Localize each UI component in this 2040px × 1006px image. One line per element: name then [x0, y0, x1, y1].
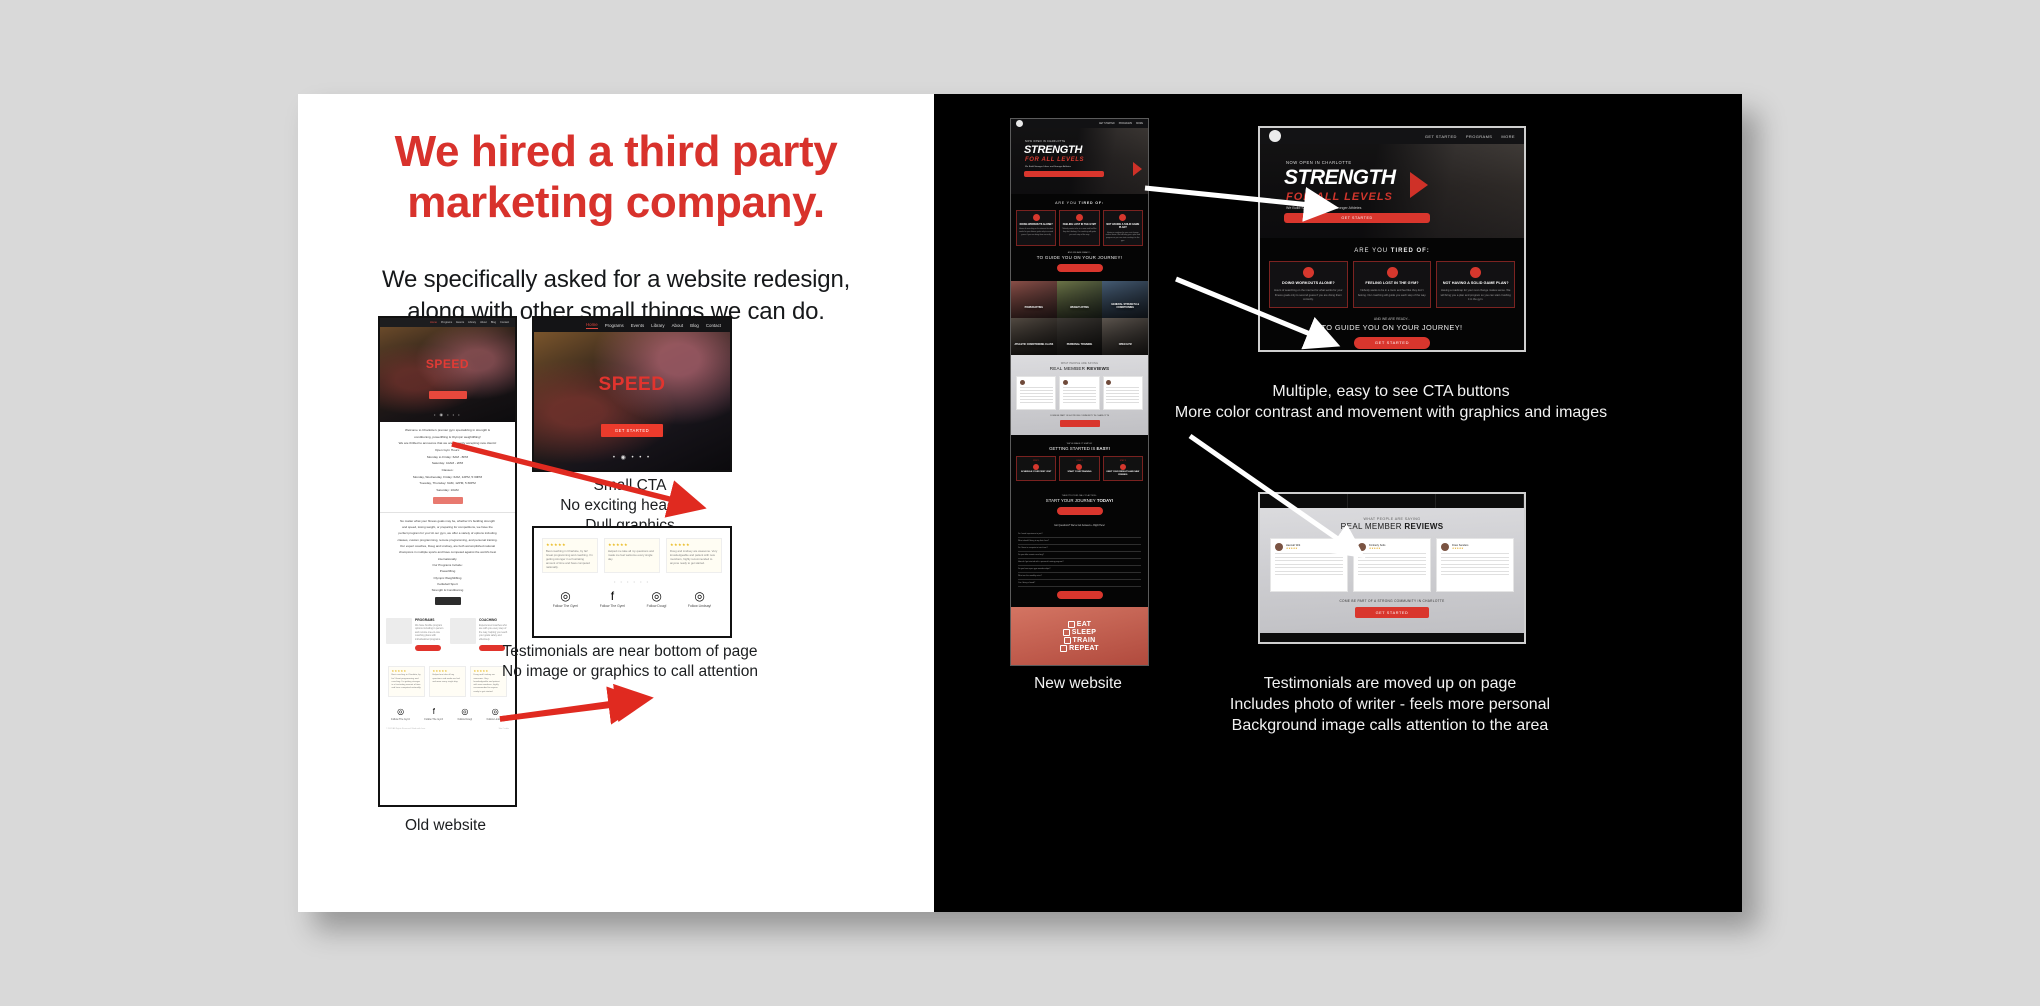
old-zoom-navbar[interactable]: Home Programs Events Library About Blog … [534, 318, 730, 332]
instagram-icon[interactable]: ◎ [391, 708, 410, 716]
chevron-right-icon [1133, 162, 1142, 176]
carousel-dots-icon[interactable]: • ◉ • • • [534, 454, 730, 461]
old-site-navbar[interactable]: Home Programs Events Library About Blog … [380, 318, 515, 327]
tired-card: FEELING LOST IN THE GYM? Nobody wants to… [1059, 210, 1099, 246]
faq-item[interactable]: Do you have open gym memberships? [1018, 566, 1141, 573]
star-rating-icon: ★★★★★ [1369, 547, 1385, 550]
badge-icon [1033, 464, 1039, 470]
tired-card: FEELING LOST IN THE GYM? Nobody wants to… [1353, 261, 1432, 308]
old-site-social-row: ◎ Follow The Gym! f Follow The Gym! ◎ Fo… [380, 701, 515, 725]
new-site-lifestyle-band: EAT SLEEP TRAIN REPEAT [1011, 607, 1148, 665]
faq-item[interactable]: What are the monthly rates? [1018, 573, 1141, 580]
badge-icon [1387, 267, 1398, 278]
old-nav-library[interactable]: Library [468, 321, 476, 324]
review-text: Best coaching in Charlotte, by far! Grea… [392, 674, 422, 690]
program-tile[interactable]: GENERAL STRENGTH & CONDITIONING [1102, 281, 1148, 318]
review-text: Helped me take all my questions and made… [433, 674, 463, 684]
welcome-line: conditioning, powerlifting & Olympic wei… [388, 435, 507, 439]
new-zoom-nav-more[interactable]: MORE [1501, 134, 1515, 139]
facebook-icon[interactable]: f [424, 708, 443, 716]
caption-line: Small CTA [498, 476, 762, 496]
section-strip [1260, 633, 1524, 642]
review-card: ★★★★★ Helped me take all my questions an… [604, 538, 660, 573]
old-hero-cta-button[interactable] [429, 391, 467, 399]
subheadline-line-1: We specifically asked for a website rede… [338, 264, 894, 296]
welcome-line: Classes: [388, 468, 507, 472]
start-cta-button[interactable] [1057, 507, 1103, 515]
social-label: Follow The Gym! [553, 604, 579, 608]
about-line: classes, custom programming, remote prog… [387, 538, 508, 542]
welcome-line: Open Gym Hours: [388, 448, 507, 452]
social-item[interactable]: ◎ Follow The Gym! [553, 590, 579, 608]
caption-line: No exciting headline [498, 496, 762, 516]
new-hero-caption: Multiple, easy to see CTA buttons More c… [1148, 382, 1634, 424]
old-zoom-nav-blog[interactable]: Blog [690, 323, 699, 328]
page-title: We hired a third party marketing company… [298, 126, 934, 229]
program-label: GENERAL STRENGTH & CONDITIONING [1102, 303, 1148, 309]
ready-kicker: AND WE ARE READY... [1016, 252, 1143, 254]
social-item[interactable]: f Follow The Gym! [600, 590, 626, 608]
new-zoom-nav-get-started[interactable]: GET STARTED [1425, 134, 1457, 139]
lifestyle-repeat: REPEAT [1060, 645, 1099, 652]
step-title: START YOUR TRAINING [1062, 471, 1096, 474]
social-item[interactable]: ◎ Follow The Gym! [391, 708, 410, 721]
program-tile[interactable]: OPEN GYM [1102, 318, 1148, 355]
step-number: STEP 2 [1062, 460, 1096, 462]
avatar [1358, 543, 1366, 551]
left-panel-old-website: We hired a third party marketing company… [298, 94, 934, 912]
step-number: STEP 1 [1019, 460, 1053, 462]
instagram-icon[interactable]: ◎ [688, 590, 711, 602]
program-tile[interactable]: PERSONAL TRAINING [1057, 318, 1103, 355]
faq-title: Got Questions? We've Got Answers + Right… [1018, 525, 1141, 527]
guide-headline: TO GUIDE YOU ON YOUR JOURNEY! [1269, 323, 1515, 332]
new-site-hero: NOW OPEN IN CHARLOTTE STRENGTH FOR ALL L… [1011, 128, 1148, 194]
about-line: No matter what your fitness goals may be… [387, 519, 508, 523]
reviews-headline: REAL MEMBER REVIEWS [1016, 366, 1143, 371]
new-site-reviews-section: WHAT PEOPLE ARE SAYING REAL MEMBER REVIE… [1011, 355, 1148, 435]
card-body: We have flexible program options includi… [415, 624, 445, 642]
instagram-icon[interactable]: ◎ [487, 708, 504, 716]
facebook-icon[interactable]: f [600, 590, 626, 602]
about-line: champions in multiple sports and have co… [387, 550, 508, 554]
tired-card-title: FEELING LOST IN THE GYM? [1062, 223, 1096, 226]
lifestyle-eat: EAT [1068, 621, 1091, 628]
instagram-icon[interactable]: ◎ [553, 590, 579, 602]
old-zoom-nav-programs[interactable]: Programs [605, 323, 624, 328]
badge-icon [1470, 267, 1481, 278]
tired-card-body: Having a roadmap for your next change ma… [1440, 289, 1511, 302]
old-zoom-nav-contact[interactable]: Contact [706, 323, 721, 328]
old-card-programs[interactable]: PROGRAMS We have flexible program option… [386, 618, 445, 651]
welcome-line: Tuesday, Thursday: 6AM, 12PM, 5:30PM [388, 481, 507, 485]
review-card: ★★★★★ Best coaching in Charlotte, by far… [388, 666, 425, 698]
avatar [1020, 380, 1025, 385]
program-tile[interactable]: POWERLIFTING [1011, 281, 1057, 318]
brand-logo-icon[interactable] [1269, 130, 1281, 142]
avatar [1275, 543, 1283, 551]
tired-card-title: DOING WORKOUTS ALONE? [1019, 223, 1053, 226]
faq-cta-button[interactable] [1057, 591, 1103, 599]
hero-kicker: NOW OPEN IN CHARLOTTE [1286, 160, 1352, 165]
checkbox-icon [1064, 637, 1071, 644]
old-website-testimonials-zoom[interactable]: ★★★★★ Best coaching in Charlotte, by far… [532, 526, 732, 638]
new-nav-get-started[interactable]: GET STARTED [1099, 123, 1115, 125]
hero-cta-button[interactable] [1024, 171, 1104, 177]
start-kicker: THEN IT'S YOUR CALL TO ACTION... [1016, 495, 1143, 497]
old-nav-contact[interactable]: Contact [500, 321, 509, 324]
new-zoom-tired-section: ARE YOU TIRED OF: DOING WORKOUTS ALONE? … [1260, 238, 1524, 352]
old-zoom-social-row: ◎ Follow The Gym! f Follow The Gym! ◎ Fo… [542, 590, 722, 608]
badge-icon [1076, 464, 1082, 470]
social-item[interactable]: f Follow The Gym! [424, 708, 443, 721]
review-card: Drew Sanders★★★★★ [1436, 538, 1514, 592]
old-zoom-nav-library[interactable]: Library [651, 323, 664, 328]
card-thumbnail [386, 618, 412, 644]
new-site-faq-section: Got Questions? We've Got Answers + Right… [1011, 523, 1148, 607]
about-line: and speed, losing weight, or preparing f… [387, 525, 508, 529]
star-rating-icon: ★★★★★ [546, 542, 594, 547]
checkbox-icon [1068, 621, 1075, 628]
new-zoom-hero: NOW OPEN IN CHARLOTTE STRENGTH FOR ALL L… [1260, 144, 1524, 238]
review-card [1103, 376, 1143, 410]
reviews-cta-button[interactable] [1060, 420, 1100, 427]
hero-headline: STRENGTH [1024, 144, 1082, 156]
badge-icon [1303, 267, 1314, 278]
avatar [1063, 380, 1068, 385]
tired-card-title: NOT HAVING A SOLID GAME PLAN? [1440, 281, 1511, 286]
old-zoom-hero: SPEED GET STARTED • ◉ • • • [534, 332, 730, 470]
tired-card-body: Hours of searching on the internet for w… [1019, 228, 1053, 236]
faq-item[interactable]: Do I have to compete to train here? [1018, 545, 1141, 552]
about-line: perfect program for you! At our gym, we … [387, 531, 508, 535]
social-label: Follow Lindsay! [487, 718, 504, 721]
easy-kicker: WE'VE MADE IT SIMPLE! [1016, 443, 1143, 445]
headline-line-2: marketing company. [298, 177, 934, 228]
welcome-line: Saturday: 10AM [388, 488, 507, 492]
lifestyle-sleep: SLEEP [1063, 629, 1096, 636]
social-label: Follow The Gym! [391, 718, 410, 721]
tired-title: ARE YOU TIRED OF: [1269, 248, 1515, 254]
about-line: Our expert coaches, Doug and Lindsey, ar… [387, 544, 508, 548]
reviews-kicker: WHAT PEOPLE ARE SAYING [1016, 363, 1143, 365]
new-website-full-page-mockup[interactable]: GET STARTED PROGRAMS MORE NOW OPEN IN CH… [1010, 118, 1149, 666]
welcome-line: We are thrilled to announce that we are … [388, 441, 507, 445]
section-strip [1260, 494, 1524, 508]
new-nav-programs[interactable]: PROGRAMS [1119, 123, 1132, 125]
footer-link[interactable]: Site Credits [499, 728, 509, 730]
social-item[interactable]: ◎ Follow Lindsay! [688, 590, 711, 608]
faq-item[interactable]: Do I need experience to join? [1018, 531, 1141, 538]
social-label: Follow The Gym! [424, 718, 443, 721]
social-label: Follow Doug! [458, 718, 473, 721]
new-site-start-section: THEN IT'S YOUR CALL TO ACTION... START Y… [1011, 489, 1148, 523]
caption-line: Background image calls attention to the … [1154, 716, 1626, 737]
old-site-footer-bar: © 2023 All Rights Reserved. Made with lo… [380, 725, 515, 735]
caption-line: Includes photo of writer - feels more pe… [1154, 695, 1626, 716]
old-site-about-block: No matter what your fitness goals may be… [380, 512, 515, 611]
old-site-welcome-block: Welcome to Charlotte's premier gym speci… [380, 422, 515, 512]
program-label: ATHLETIC CONDITIONING CLASS [1014, 343, 1053, 346]
new-website-hero-zoom[interactable]: GET STARTED PROGRAMS MORE NOW OPEN IN CH… [1258, 126, 1526, 352]
review-card [1059, 376, 1099, 410]
guide-headline: TO GUIDE YOU ON YOUR JOURNEY! [1016, 255, 1143, 260]
badge-icon [1120, 464, 1126, 470]
presentation-stage: We hired a third party marketing company… [0, 0, 2040, 1006]
faq-item[interactable]: How do I get started with a personal tra… [1018, 559, 1141, 566]
old-zoom-cta-button[interactable]: GET STARTED [601, 424, 663, 437]
tired-card: NOT HAVING A SOLID GAME PLAN? Having a r… [1103, 210, 1143, 246]
review-card: ★★★★★ Best coaching in Charlotte, by far… [542, 538, 598, 573]
star-rating-icon: ★★★★★ [1452, 547, 1468, 550]
welcome-line: Welcome to Charlotte's premier gym speci… [388, 428, 507, 432]
caption-line: No image or graphics to call attention [484, 662, 776, 682]
tired-card-body: Having a roadmap for your next change ma… [1106, 232, 1140, 243]
old-nav-home[interactable]: Home [430, 321, 437, 324]
caption-line: Testimonials are moved up on page [1154, 674, 1626, 695]
about-line: Kettlebell Sport [387, 582, 508, 586]
old-nav-programs[interactable]: Programs [441, 321, 452, 324]
caption-line: Multiple, easy to see CTA buttons [1148, 382, 1634, 403]
hero-subheadline: FOR ALL LEVELS [1025, 157, 1084, 163]
old-nav-blog[interactable]: Blog [491, 321, 496, 324]
brand-logo-icon[interactable] [1016, 120, 1023, 127]
card-title: PROGRAMS [415, 618, 445, 622]
new-site-navbar[interactable]: GET STARTED PROGRAMS MORE [1011, 119, 1148, 128]
about-line: Our Programs Include: [387, 563, 508, 567]
footer-copyright: © 2023 All Rights Reserved. Made with lo… [386, 728, 426, 730]
program-tile[interactable]: WEIGHTLIFTING [1057, 281, 1103, 318]
right-panel-new-website: GET STARTED PROGRAMS MORE NOW OPEN IN CH… [934, 94, 1742, 912]
review-card [1016, 376, 1056, 410]
hero-headline: STRENGTH [1284, 166, 1396, 190]
tired-title: ARE YOU TIRED OF: [1016, 201, 1143, 205]
guide-cta-button[interactable]: GET STARTED [1354, 337, 1430, 349]
program-label: PERSONAL TRAINING [1067, 343, 1092, 346]
ready-kicker: AND WE ARE READY... [1269, 317, 1515, 321]
carousel-dots-icon[interactable]: • ◉ • • • [380, 412, 515, 417]
welcome-line: Monday, Wednesday, Friday: 6AM, 12PM, 5:… [388, 475, 507, 479]
caption-line: More color contrast and movement with gr… [1148, 403, 1634, 424]
old-zoom-nav-home[interactable]: Home [586, 322, 598, 329]
step-card: STEP 3 KEEP YOUR RESULTS AND NEW FRIENDS [1103, 456, 1143, 481]
reviews-subtext: COME BE PART OF A STRONG COMMUNITY IN CH… [1270, 599, 1514, 603]
old-welcome-cta-button[interactable] [433, 497, 463, 504]
reviews-cta-button[interactable]: GET STARTED [1355, 607, 1429, 618]
guide-cta-button[interactable] [1057, 264, 1103, 272]
faq-item[interactable]: Can I bring a friend? [1018, 580, 1141, 587]
star-rating-icon: ★★★★★ [433, 669, 463, 673]
card-body: Experienced coaches who are with you eve… [479, 624, 509, 642]
old-zoom-review-row: ★★★★★ Best coaching in Charlotte, by far… [542, 538, 722, 573]
tired-card: DOING WORKOUTS ALONE? Hours of searching… [1269, 261, 1348, 308]
about-line: Olympic Weightlifting [387, 576, 508, 580]
star-rating-icon: ★★★★★ [670, 542, 718, 547]
review-card: Kimberly Solis★★★★★ [1353, 538, 1431, 592]
reviews-kicker: WHAT PEOPLE ARE SAYING [1270, 517, 1514, 521]
slide: We hired a third party marketing company… [298, 94, 1742, 912]
hero-support-text: We Build Stronger Lifters and Stronger A… [1286, 206, 1361, 210]
easy-headline: GETTING STARTED IS EASY! [1016, 446, 1143, 451]
badge-icon [1033, 214, 1040, 221]
welcome-line: Saturday: 10AM - 2PM [388, 461, 507, 465]
tired-card-title: FEELING LOST IN THE GYM? [1357, 281, 1428, 286]
chevron-right-icon [1410, 172, 1428, 198]
program-tile[interactable]: ATHLETIC CONDITIONING CLASS [1011, 318, 1057, 355]
old-hero-headline: SPEED [380, 357, 515, 371]
card-cta-button[interactable] [415, 645, 441, 651]
old-zoom-nav-events[interactable]: Events [631, 323, 644, 328]
faq-item[interactable]: What should I bring to my first class? [1018, 538, 1141, 545]
badge-icon [1076, 214, 1083, 221]
hero-kicker: NOW OPEN IN CHARLOTTE [1025, 140, 1065, 143]
step-card: STEP 1 SCHEDULE YOUR FIRST VISIT [1016, 456, 1056, 481]
step-card: STEP 2 START YOUR TRAINING [1059, 456, 1099, 481]
step-number: STEP 3 [1106, 460, 1140, 462]
step-title: SCHEDULE YOUR FIRST VISIT [1019, 471, 1053, 474]
old-nav-events[interactable]: Events [456, 321, 464, 324]
avatar [1441, 543, 1449, 551]
checkbox-icon [1063, 629, 1070, 636]
social-item[interactable]: ◎ Follow Doug! [458, 708, 473, 721]
headline-line-1: We hired a third party [298, 126, 934, 177]
carousel-dots-icon[interactable]: • • • • • • [542, 579, 722, 584]
caption-line: Testimonials are near bottom of page [484, 642, 776, 662]
review-text: Best coaching in Charlotte, by far! Grea… [546, 549, 594, 570]
review-card: Hannah Witt★★★★★ [1270, 538, 1348, 592]
new-testimonials-caption: Testimonials are moved up on page Includ… [1154, 674, 1626, 736]
card-title: COACHING [479, 618, 509, 622]
tired-card: NOT HAVING A SOLID GAME PLAN? Having a r… [1436, 261, 1515, 308]
social-label: Follow Lindsay! [688, 604, 711, 608]
old-site-hero: SPEED • ◉ • • • [380, 327, 515, 422]
star-rating-icon: ★★★★★ [608, 542, 656, 547]
social-label: Follow The Gym! [600, 604, 626, 608]
social-label: Follow Doug! [647, 604, 667, 608]
new-nav-more[interactable]: MORE [1136, 123, 1143, 125]
tired-card-title: DOING WORKOUTS ALONE? [1273, 281, 1344, 286]
start-headline: START YOUR JOURNEY TODAY! [1016, 498, 1143, 503]
hero-subheadline: FOR ALL LEVELS [1286, 191, 1393, 203]
hero-cta-button[interactable]: GET STARTED [1284, 213, 1430, 223]
program-label: OPEN GYM [1119, 343, 1132, 346]
reviews-headline: REAL MEMBER REVIEWS [1270, 522, 1514, 531]
new-website-caption: New website [998, 674, 1158, 694]
new-site-easy-section: WE'VE MADE IT SIMPLE! GETTING STARTED IS… [1011, 435, 1148, 489]
new-zoom-nav-programs[interactable]: PROGRAMS [1466, 134, 1493, 139]
program-label: WEIGHTLIFTING [1070, 306, 1089, 309]
old-website-hero-zoom[interactable]: Home Programs Events Library About Blog … [532, 316, 732, 472]
location-map[interactable] [1011, 665, 1148, 666]
social-item[interactable]: ◎ Follow Doug! [647, 590, 667, 608]
old-website-full-page-mockup[interactable]: Home Programs Events Library About Blog … [378, 316, 517, 807]
welcome-line: Monday to Friday: 6AM - 8PM [388, 455, 507, 459]
old-zoom-hero-headline: SPEED [534, 374, 730, 396]
hero-support-text: We Build Stronger Lifters and Stronger A… [1025, 166, 1071, 168]
lifestyle-train: TRAIN [1064, 637, 1096, 644]
old-zoom-nav-about[interactable]: About [672, 323, 683, 328]
new-site-programs-grid: POWERLIFTING WEIGHTLIFTING GENERAL STREN… [1011, 281, 1148, 355]
checkbox-icon [1060, 645, 1067, 652]
new-site-tired-section: ARE YOU TIRED OF: DOING WORKOUTS ALONE? … [1011, 194, 1148, 281]
old-testimonials-caption: Testimonials are near bottom of page No … [484, 642, 776, 682]
social-item[interactable]: ◎ Follow Lindsay! [487, 708, 504, 721]
instagram-icon[interactable]: ◎ [647, 590, 667, 602]
instagram-icon[interactable]: ◎ [458, 708, 473, 716]
badge-icon [1119, 214, 1126, 221]
new-website-testimonials-zoom[interactable]: WHAT PEOPLE ARE SAYING REAL MEMBER REVIE… [1258, 492, 1526, 644]
old-about-cta-button[interactable] [435, 597, 461, 605]
tired-card-title: NOT HAVING A SOLID GAME PLAN? [1106, 223, 1140, 230]
tired-card-body: Hours of searching on the internet for w… [1273, 289, 1344, 302]
review-card: ★★★★★ Doug and Lindsey are awesome. Very… [666, 538, 722, 573]
about-line: Strength & Conditioning [387, 588, 508, 592]
tired-card: DOING WORKOUTS ALONE? Hours of searching… [1016, 210, 1056, 246]
review-text: Doug and Lindsey are awesome. Very knowl… [670, 549, 718, 566]
star-rating-icon: ★★★★★ [392, 669, 422, 673]
card-thumbnail [450, 618, 476, 644]
avatar [1106, 380, 1111, 385]
step-title: KEEP YOUR RESULTS AND NEW FRIENDS [1106, 471, 1140, 477]
tired-card-body: Nobody wants to be in a room and feel li… [1062, 228, 1096, 236]
program-label: POWERLIFTING [1025, 306, 1043, 309]
reviews-subtext: COME BE PART OF A STRONG COMMUNITY IN CH… [1016, 415, 1143, 417]
new-zoom-navbar[interactable]: GET STARTED PROGRAMS MORE [1260, 128, 1524, 144]
star-rating-icon: ★★★★★ [1286, 547, 1300, 550]
review-text: Helped me take all my questions and made… [608, 549, 656, 562]
tired-card-body: Nobody wants to be in a room and feel li… [1357, 289, 1428, 297]
review-card: ★★★★★ Helped me take all my questions an… [429, 666, 466, 698]
about-line: internationally. [387, 557, 508, 561]
faq-item[interactable]: Do you offer remote coaching? [1018, 552, 1141, 559]
old-website-caption: Old website [328, 816, 563, 836]
about-line: Powerlifting [387, 569, 508, 573]
old-nav-about[interactable]: About [480, 321, 487, 324]
